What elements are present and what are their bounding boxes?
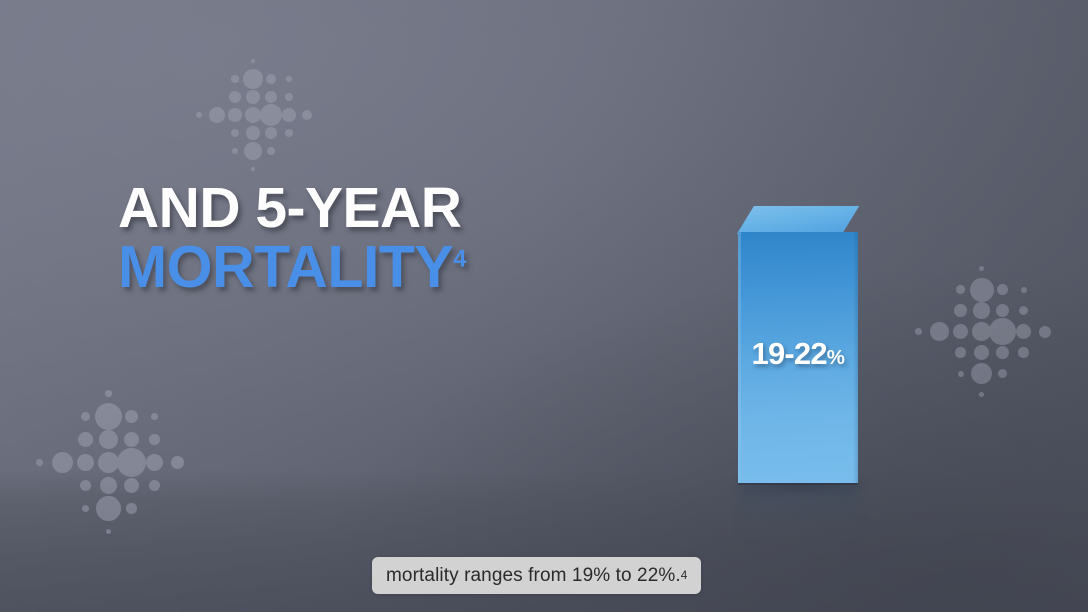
bar-top-face <box>737 206 859 234</box>
bar-value-range: 19-22 <box>752 336 827 371</box>
bar-chart: 19-22% <box>722 200 882 500</box>
headline-line-2: MORTALITY4 <box>118 240 466 295</box>
headline-line-2-text: MORTALITY <box>118 234 453 300</box>
background-corner-shading <box>0 0 1088 612</box>
caption-citation-superscript: 4 <box>681 569 688 582</box>
bar-reflection <box>740 483 858 541</box>
slide-canvas: AND 5-YEAR MORTALITY4 19-22% mortality r… <box>0 0 1088 612</box>
page-title: AND 5-YEAR MORTALITY4 <box>118 182 466 295</box>
bar-value-unit: % <box>827 346 845 369</box>
headline-citation-superscript: 4 <box>453 246 466 272</box>
caption-bar: mortality ranges from 19% to 22%.4 <box>372 557 701 594</box>
headline-line-1: AND 5-YEAR <box>118 182 466 236</box>
caption-text: mortality ranges from 19% to 22%. <box>386 565 681 587</box>
bar-value-label: 19-22% <box>738 336 858 372</box>
